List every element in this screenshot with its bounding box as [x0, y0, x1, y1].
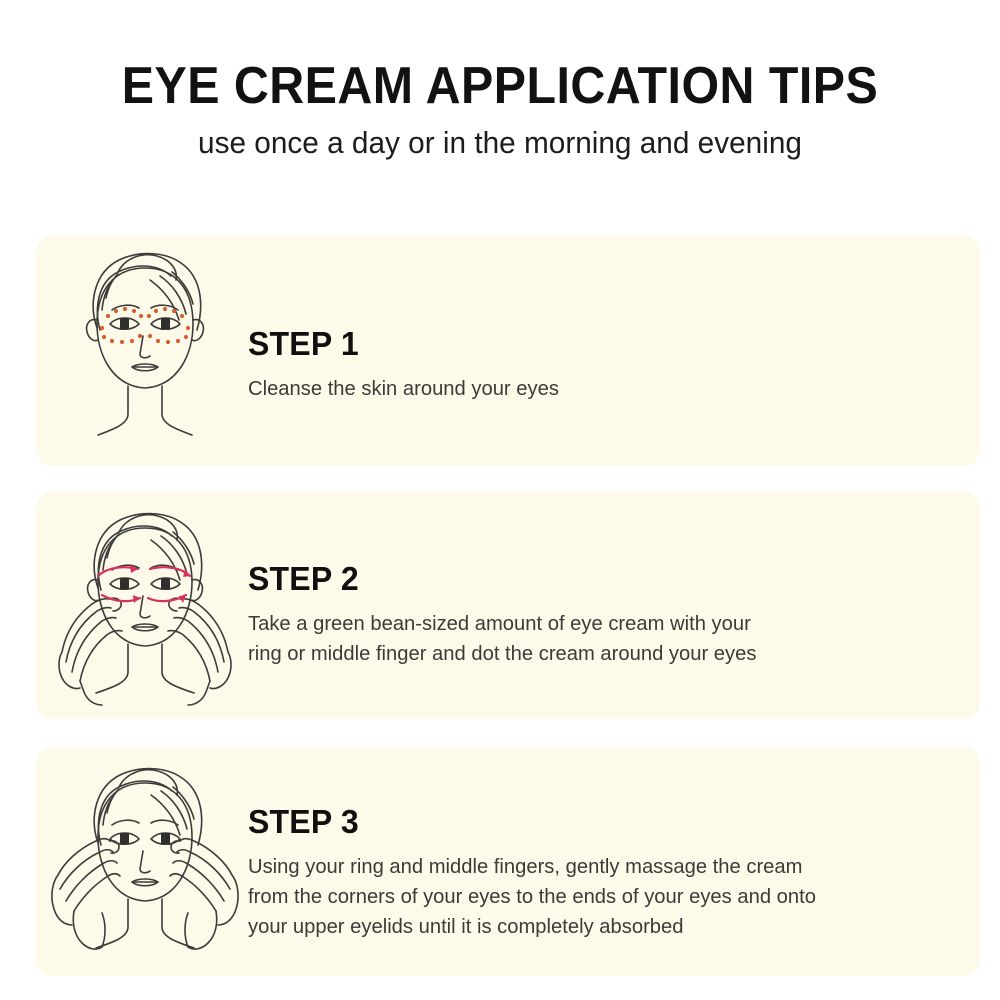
step-2-heading: STEP 2	[248, 562, 929, 595]
step-2-body: Take a green bean-sized amount of eye cr…	[248, 609, 939, 668]
step-1-body-line-1: Cleanse the skin around your eyes	[248, 374, 939, 404]
step-3-body-line-2: from the corners of your eyes to the end…	[248, 882, 939, 912]
step-2-body-line-1: Take a green bean-sized amount of eye cr…	[248, 609, 939, 639]
page-title: EYE CREAM APPLICATION TIPS	[35, 58, 965, 115]
step-2-text-block: STEP 2 Take a green bean-sized amount of…	[248, 492, 950, 719]
page-subtitle: use once a day or in the morning and eve…	[20, 125, 980, 161]
infographic-page: EYE CREAM APPLICATION TIPS use once a da…	[0, 0, 1000, 1000]
step-2-illustration	[40, 492, 250, 719]
step-card-2: STEP 2 Take a green bean-sized amount of…	[36, 492, 980, 719]
step-1-illustration	[40, 236, 250, 466]
step-3-body: Using your ring and middle fingers, gent…	[248, 852, 939, 941]
step-3-text-block: STEP 3 Using your ring and middle finger…	[248, 747, 950, 976]
step-1-text-block: STEP 1 Cleanse the skin around your eyes	[248, 236, 950, 466]
step-2-body-line-2: ring or middle finger and dot the cream …	[248, 639, 939, 669]
step-3-body-line-1: Using your ring and middle fingers, gent…	[248, 852, 939, 882]
step-3-body-line-3: your upper eyelids until it is completel…	[248, 912, 939, 942]
step-3-heading: STEP 3	[248, 805, 929, 838]
step-1-heading: STEP 1	[248, 327, 929, 360]
step-1-body: Cleanse the skin around your eyes	[248, 374, 939, 404]
header: EYE CREAM APPLICATION TIPS use once a da…	[0, 58, 1000, 161]
step-3-illustration	[40, 747, 250, 976]
step-card-3: STEP 3 Using your ring and middle finger…	[36, 747, 980, 976]
step-card-1: STEP 1 Cleanse the skin around your eyes	[36, 236, 980, 466]
